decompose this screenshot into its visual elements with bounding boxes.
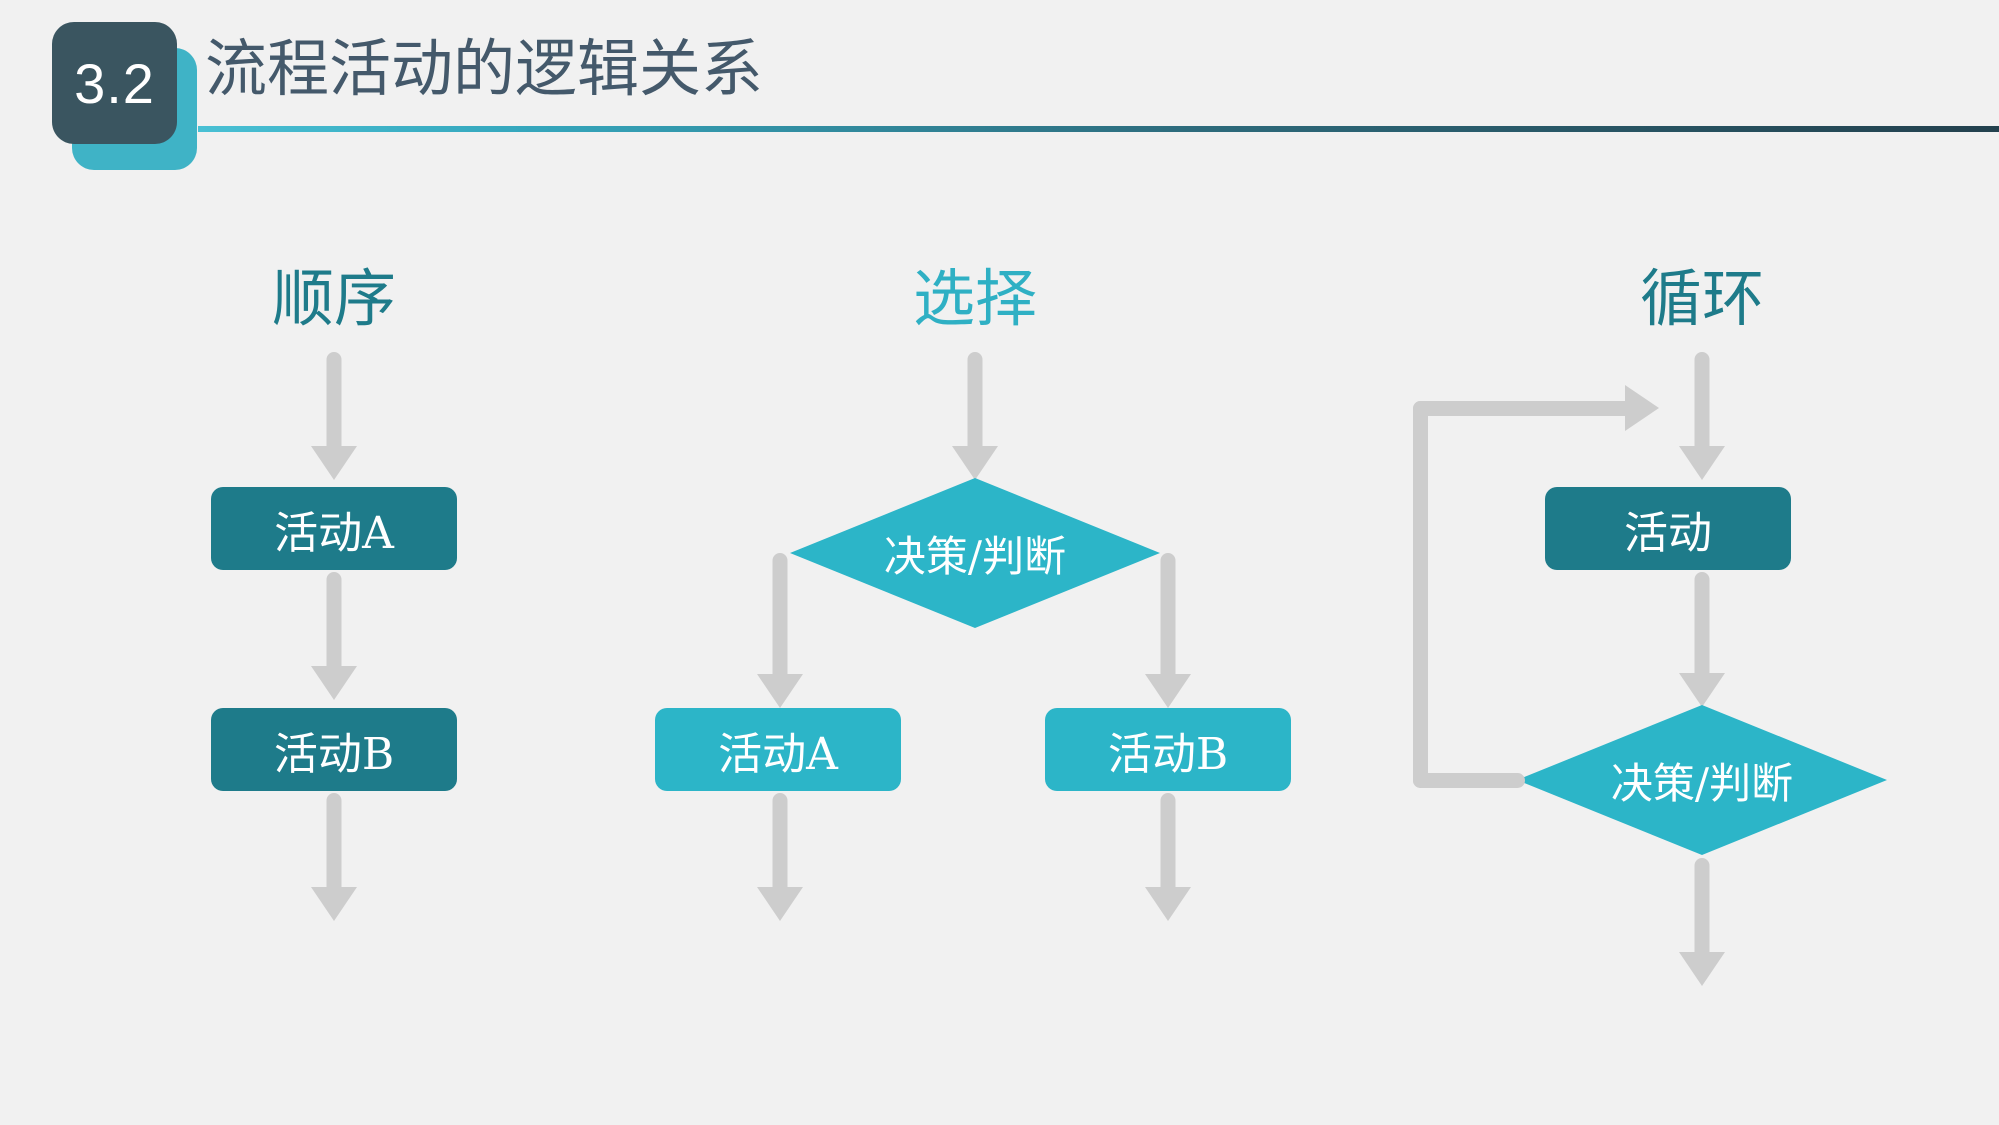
arrow-seq-heading-to-a bbox=[311, 352, 357, 480]
arrow-loop-activity-to-decision bbox=[1679, 572, 1725, 707]
arrow-loop-decision-to-out bbox=[1679, 858, 1725, 986]
column-heading-sequence: 顺序 bbox=[184, 268, 484, 330]
loop-back-segment-vertical bbox=[1413, 401, 1428, 788]
arrow-seq-a-to-b bbox=[311, 572, 357, 700]
node-loop-activity[interactable]: 活动 bbox=[1545, 487, 1791, 570]
node-sel-activity-a[interactable]: 活动A bbox=[655, 708, 901, 791]
loop-back-segment-bottom bbox=[1413, 773, 1525, 788]
arrow-sel-decision-to-b bbox=[1145, 553, 1191, 708]
column-heading-selection: 选择 bbox=[825, 268, 1125, 330]
arrow-seq-b-to-out bbox=[311, 793, 357, 921]
node-loop-decision[interactable]: 决策/判断 bbox=[1517, 705, 1887, 855]
column-heading-loop: 循环 bbox=[1552, 268, 1852, 330]
arrow-sel-a-to-out bbox=[757, 793, 803, 921]
node-sel-activity-b[interactable]: 活动B bbox=[1045, 708, 1291, 791]
loop-back-segment-top bbox=[1413, 401, 1635, 416]
arrow-sel-b-to-out bbox=[1145, 793, 1191, 921]
node-seq-activity-a[interactable]: 活动A bbox=[211, 487, 457, 570]
arrow-sel-decision-to-a bbox=[757, 553, 803, 708]
node-sel-decision[interactable]: 决策/判断 bbox=[790, 478, 1160, 628]
arrow-sel-heading-to-decision bbox=[952, 352, 998, 480]
node-seq-activity-b[interactable]: 活动B bbox=[211, 708, 457, 791]
arrow-loop-heading-to-activity bbox=[1679, 352, 1725, 480]
loop-back-arrowhead bbox=[1625, 385, 1659, 431]
flowchart-diagram: 顺序 活动A 活动B 选择 决策/判断 bbox=[0, 0, 1999, 1125]
slide-canvas: 3.2 流程活动的逻辑关系 顺序 活动A 活动B 选择 bbox=[0, 0, 1999, 1125]
